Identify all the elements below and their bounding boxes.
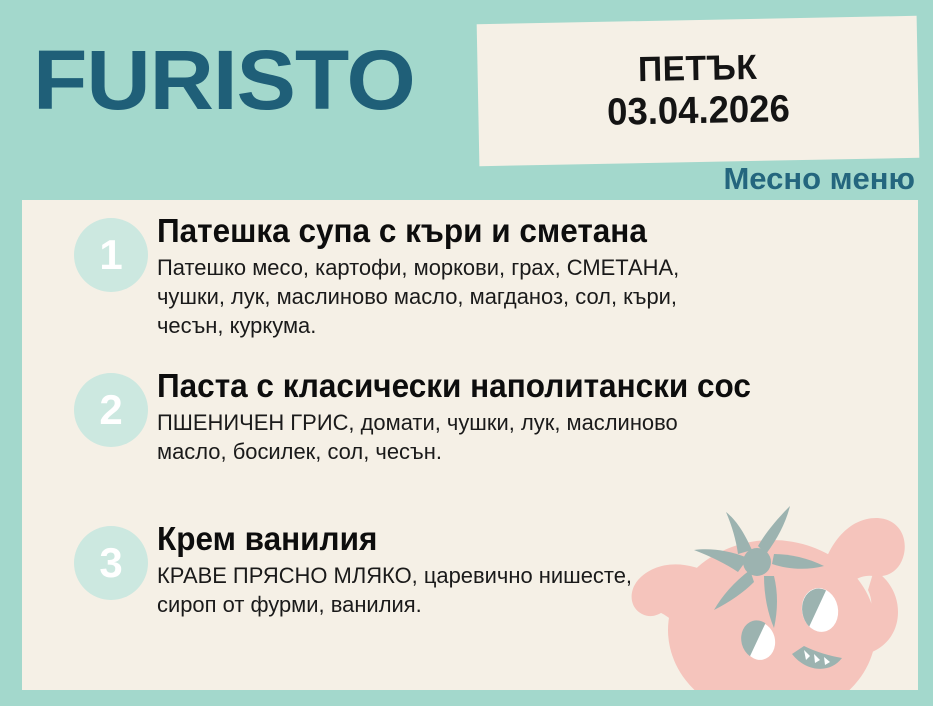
menu-item-title: Патешка супа с къри и сметана <box>157 212 883 250</box>
menu-item-title: Крем ванилия <box>157 520 883 558</box>
menu-item-description: КРАВЕ ПРЯСНО МЛЯКО, царевично нишесте, с… <box>157 561 859 619</box>
date-banner-inner: ПЕТЪК 03.04.2026 <box>602 47 794 134</box>
date-label: 03.04.2026 <box>607 89 790 135</box>
menu-panel: 1 Патешка супа с къри и сметана Патешко … <box>22 200 918 690</box>
brand-logo: FURISTO <box>33 38 415 122</box>
menu-item-description: Патешко месо, картофи, моркови, грах, СМ… <box>157 253 859 340</box>
menu-item-description: ПШЕНИЧЕН ГРИС, домати, чушки, лук, масли… <box>157 408 859 466</box>
menu-item-body: Патешка супа с къри и сметана Патешко ме… <box>157 212 917 340</box>
menu-item-number-badge: 3 <box>74 526 148 600</box>
menu-type-label: Месно меню <box>723 161 915 197</box>
menu-item-body: Паста с класически наполитански сос ПШЕН… <box>157 367 917 466</box>
menu-item-body: Крем ванилия КРАВЕ ПРЯСНО МЛЯКО, царевич… <box>157 520 917 619</box>
weekday-label: ПЕТЪК <box>606 47 789 90</box>
poster-header: FURISTO ПЕТЪК 03.04.2026 Месно меню <box>0 0 933 200</box>
menu-item-title: Паста с класически наполитански сос <box>157 367 883 405</box>
menu-item-number-badge: 2 <box>74 373 148 447</box>
menu-poster: FURISTO ПЕТЪК 03.04.2026 Месно меню <box>0 0 933 706</box>
menu-item-number-badge: 1 <box>74 218 148 292</box>
date-banner: ПЕТЪК 03.04.2026 <box>477 16 920 166</box>
